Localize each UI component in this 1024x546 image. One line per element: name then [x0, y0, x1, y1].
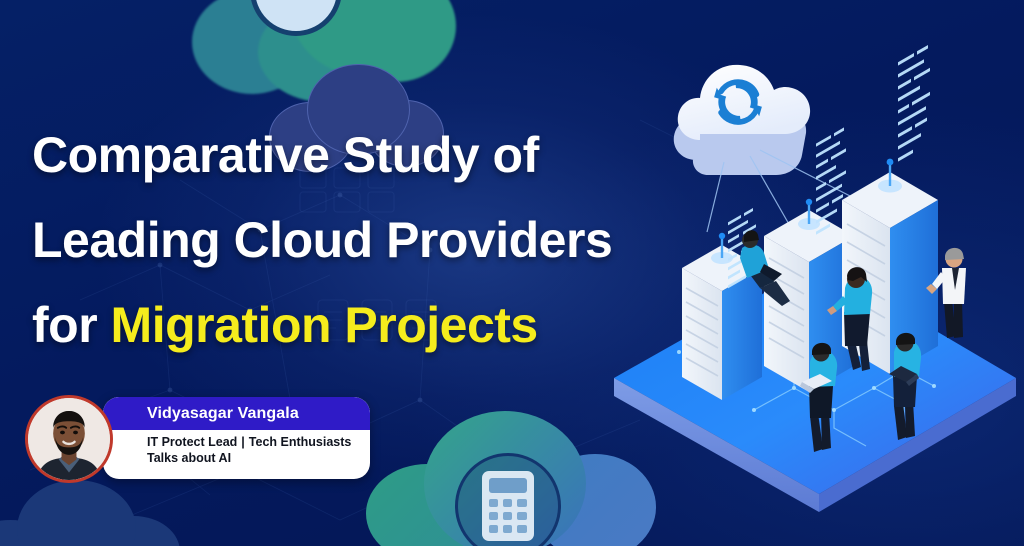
- author-role: IT Protect Lead: [147, 435, 237, 449]
- cloud-migration-illustration: [604, 0, 1024, 546]
- headline-line-3-prefix: for: [32, 297, 111, 353]
- author-name: Vidyasagar Vangala: [147, 405, 299, 423]
- author-subline: Talks about AI: [147, 451, 231, 465]
- banner: Comparative Study of Leading Cloud Provi…: [0, 0, 1024, 546]
- page-title: Comparative Study of Leading Cloud Provi…: [32, 113, 692, 368]
- author-name-bar: Vidyasagar Vangala: [103, 397, 370, 430]
- author-meta: IT Protect Lead|Tech Enthusiasts Talks a…: [103, 430, 370, 466]
- author-separator: |: [237, 435, 249, 451]
- author-badge: Vidyasagar Vangala IT Protect Lead|Tech …: [25, 395, 370, 485]
- author-card: Vidyasagar Vangala IT Protect Lead|Tech …: [103, 397, 370, 479]
- author-tagline: Tech Enthusiasts: [249, 435, 352, 449]
- headline-line-1: Comparative Study of: [32, 113, 692, 198]
- headline-line-3: for Migration Projects: [32, 283, 692, 368]
- headline-line-2: Leading Cloud Providers: [32, 198, 692, 283]
- cloud-sync-icon: [674, 65, 810, 175]
- avatar: [25, 395, 113, 483]
- headline-line-3-accent: Migration Projects: [111, 297, 538, 353]
